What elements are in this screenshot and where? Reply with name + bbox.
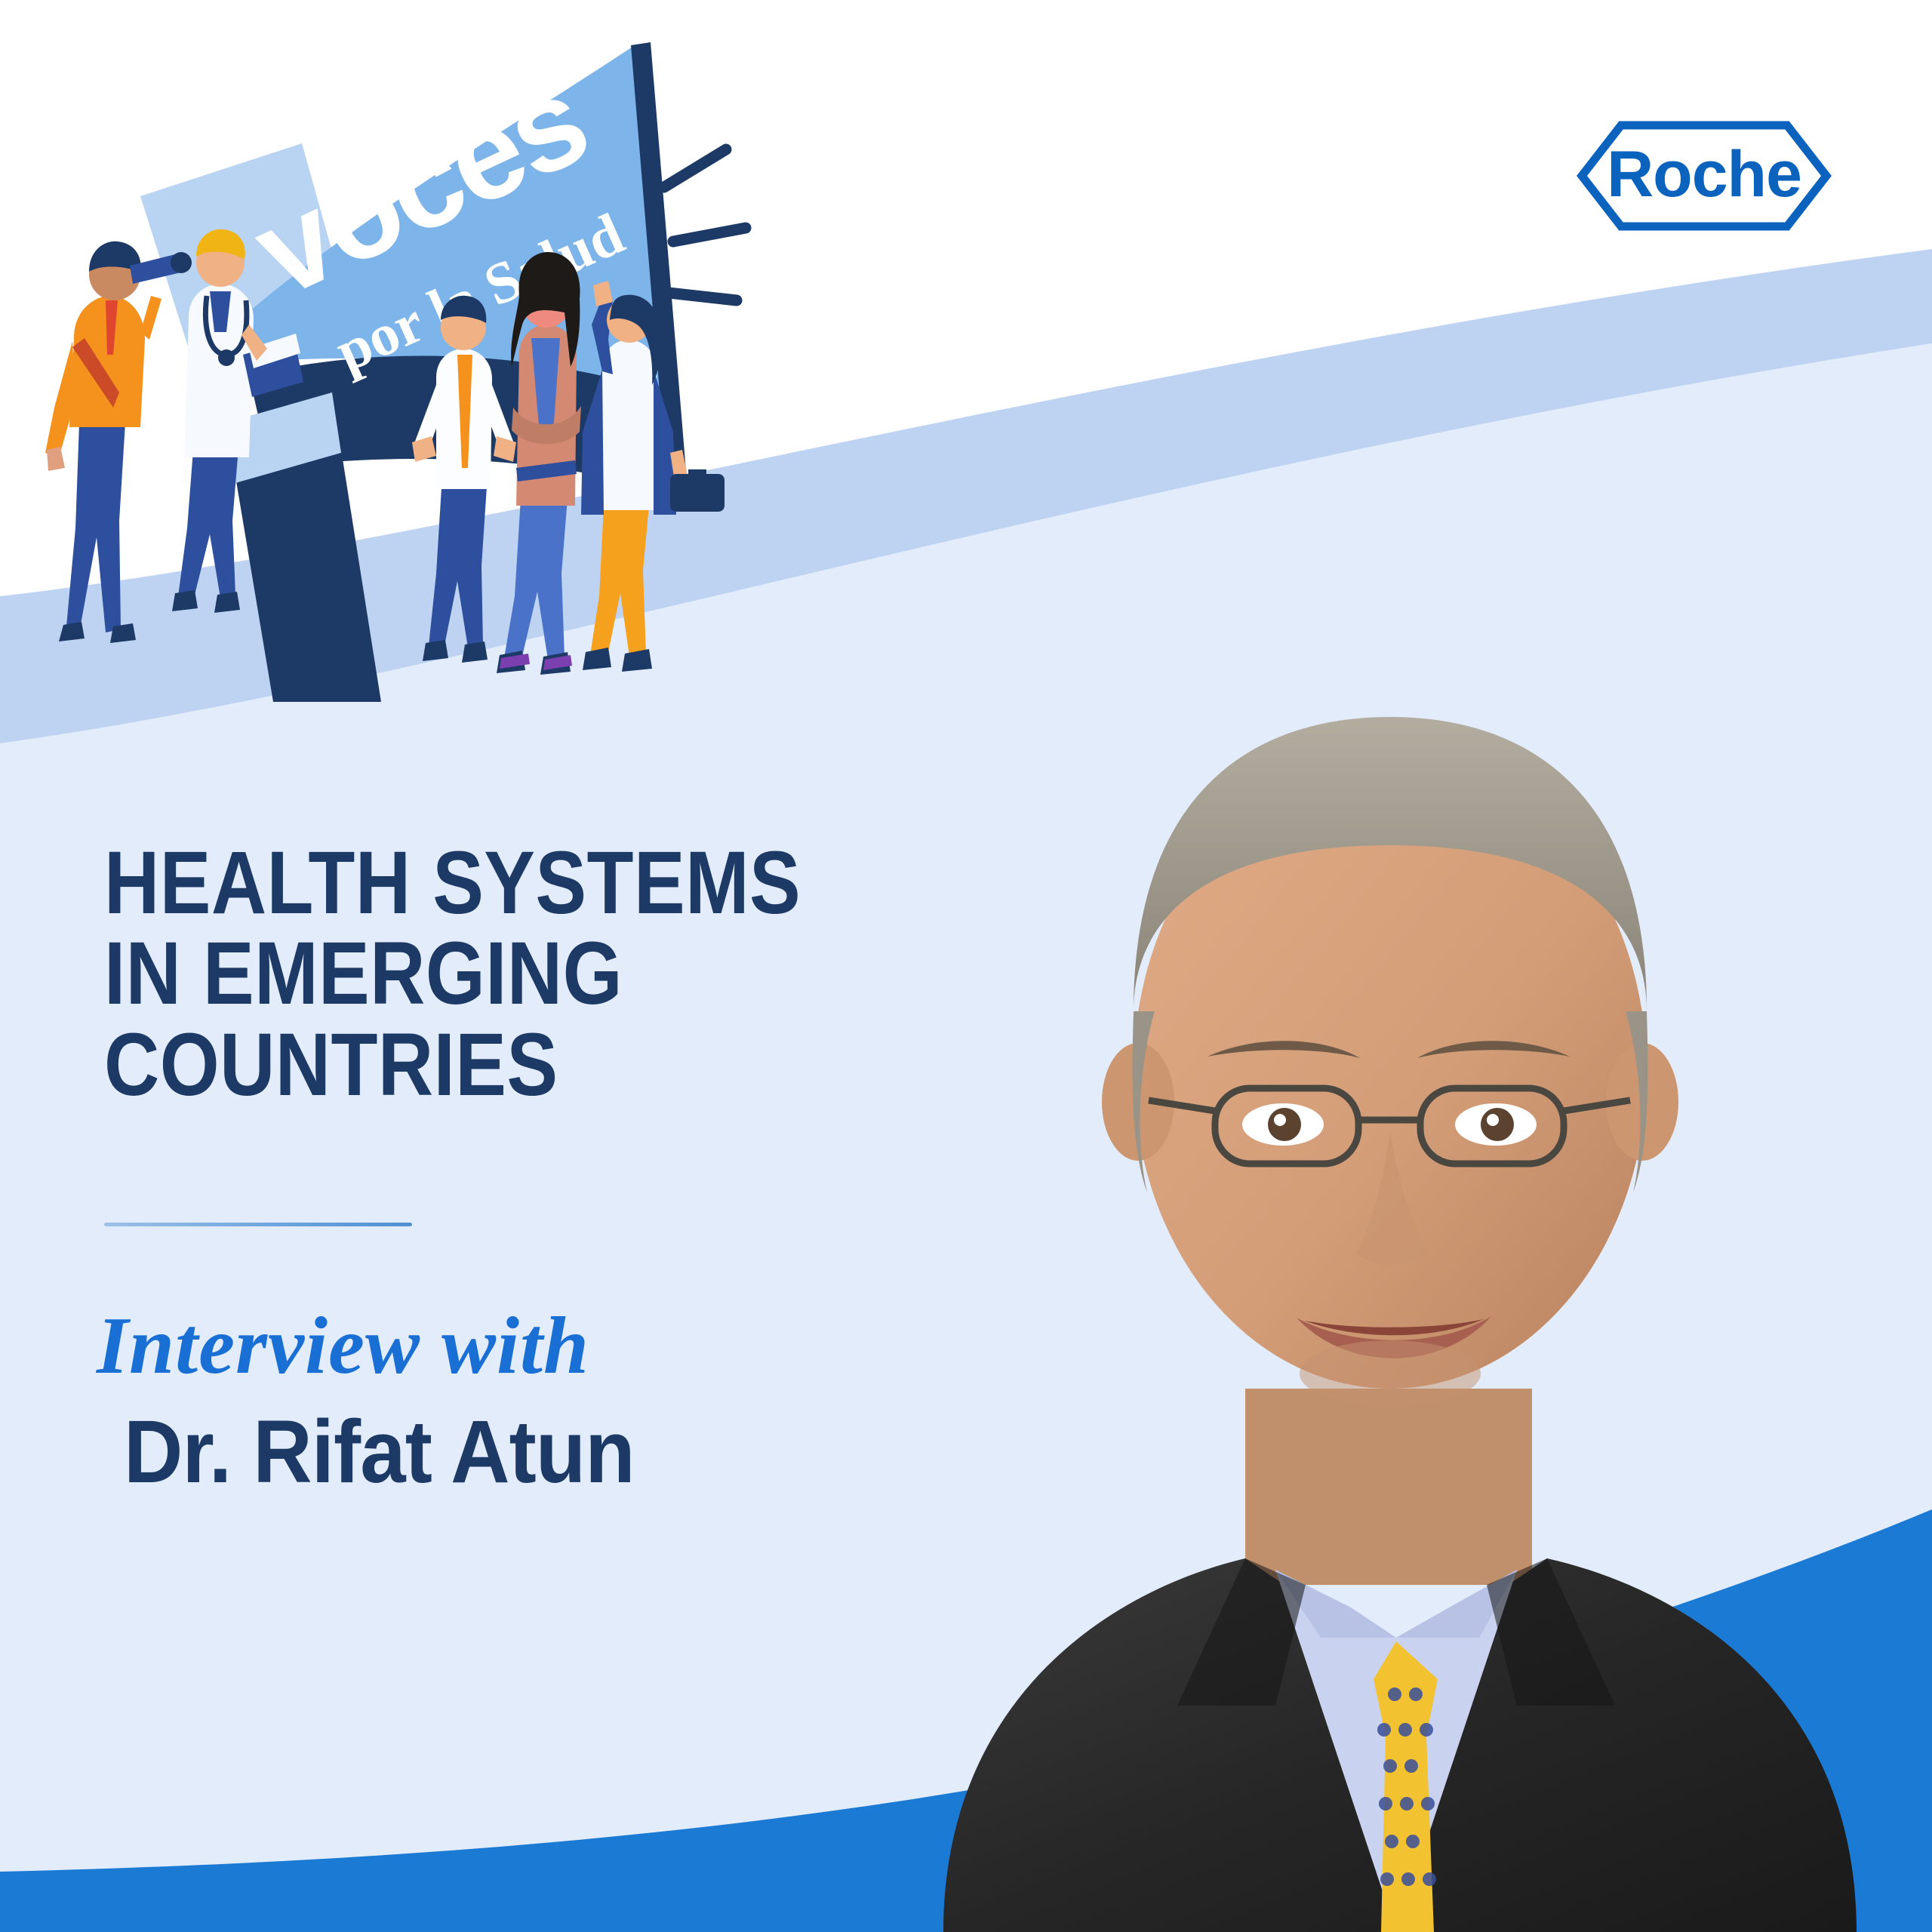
interview-label: Interview with	[97, 1306, 589, 1387]
text-block: HEALTH SYSTEMS IN EMERGING COUNTRIES Int…	[104, 838, 972, 1110]
roche-logo: Roche	[1576, 119, 1832, 232]
page-title: HEALTH SYSTEMS IN EMERGING COUNTRIES	[104, 838, 851, 1110]
title-divider	[104, 1223, 412, 1226]
voces-por-la-salud-illustration: voces por la Salud	[0, 0, 800, 724]
person-explorer-illustration	[45, 241, 192, 643]
sound-waves-icon	[664, 149, 746, 300]
guest-portrait	[853, 528, 1932, 1932]
roche-wordmark: Roche	[1576, 119, 1832, 232]
person-woman-raised-hand-illustration	[581, 281, 724, 672]
guest-name: Dr. Rifat Atun	[124, 1407, 635, 1497]
podcast-cover-poster: voces por la Salud	[0, 0, 1932, 1932]
